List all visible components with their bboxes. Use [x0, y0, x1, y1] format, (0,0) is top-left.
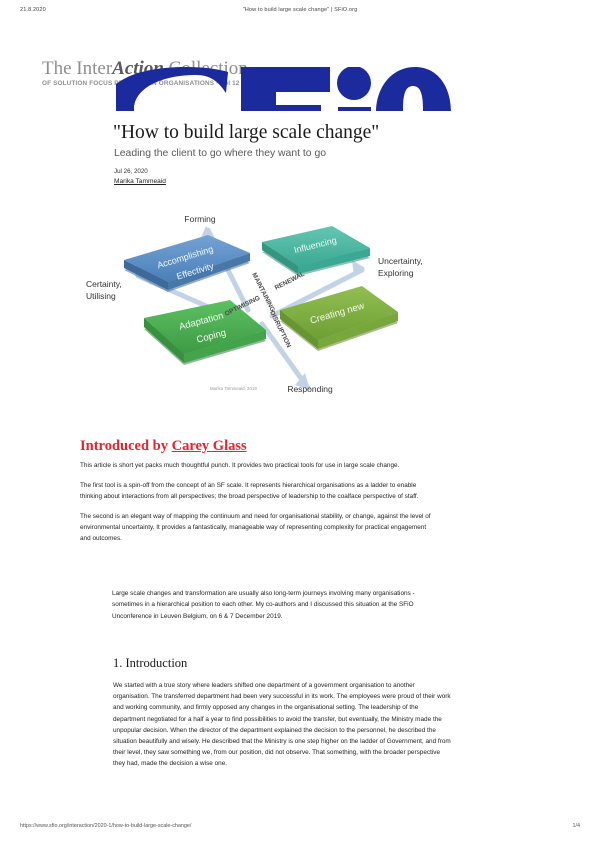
intro-paragraph-1: This article is short yet packs much tho…: [80, 460, 432, 471]
print-header: 21.8.2020 "How to build large scale chan…: [0, 7, 600, 19]
svg-text:Utilising: Utilising: [86, 291, 116, 301]
pull-quote: Large scale changes and transformation a…: [112, 588, 430, 622]
sfio-logo: [116, 67, 451, 111]
introduced-by-name: Carey Glass: [172, 438, 247, 454]
article-date: Jul 26, 2020: [114, 168, 148, 175]
svg-text:Certainty,: Certainty,: [86, 279, 122, 289]
print-header-title: "How to build large scale change" | SFiO…: [0, 7, 600, 13]
four-quadrant-diagram: Accomplishing Effectivity Influencing Ad…: [80, 212, 520, 394]
svg-text:RENEWAL: RENEWAL: [274, 271, 306, 292]
quadrant-bottom-right: Creating new: [280, 286, 398, 351]
article-subtitle: Leading the client to go where they want…: [114, 148, 534, 159]
introduced-by-heading: Introduced by Carey Glass: [80, 438, 247, 455]
svg-text:Uncertainty,: Uncertainty,: [378, 256, 423, 266]
svg-text:Forming: Forming: [184, 214, 215, 224]
print-footer-page-number: 1/4: [573, 823, 581, 829]
section-1-heading: 1. Introduction: [113, 656, 187, 671]
quadrant-top-left: Accomplishing Effectivity: [124, 235, 250, 292]
masthead-banner: The InterAction Collection OF SOLUTION F…: [0, 33, 600, 111]
masthead-title-part1: The Inter: [42, 58, 112, 79]
article-author-link[interactable]: Marika Tammeaid: [114, 178, 166, 185]
intro-paragraphs: This article is short yet packs much tho…: [80, 460, 432, 553]
svg-text:Exploring: Exploring: [378, 268, 414, 278]
intro-paragraph-2: The first tool is a spin-off from the co…: [80, 480, 432, 502]
svg-text:Responding: Responding: [287, 384, 333, 394]
page-title: "How to build large scale change": [113, 122, 533, 144]
print-footer-url: https://www.sfio.org/interaction/2020-1/…: [20, 823, 191, 829]
introduced-by-prefix: Introduced by: [80, 438, 172, 454]
intro-paragraph-3: The second is an elegant way of mapping …: [80, 511, 432, 544]
print-footer: https://www.sfio.org/interaction/2020-1/…: [0, 823, 600, 835]
svg-text:MAINTAINING: MAINTAINING: [250, 272, 276, 313]
section-1-paragraph: We started with a true story where leade…: [113, 680, 451, 770]
figure-caption: Marika Tammeaid, 2019: [210, 386, 257, 391]
printed-article-page: 21.8.2020 "How to build large scale chan…: [0, 0, 600, 848]
section-1-body: We started with a true story where leade…: [113, 680, 451, 770]
pull-quote-text: Large scale changes and transformation a…: [112, 588, 430, 622]
